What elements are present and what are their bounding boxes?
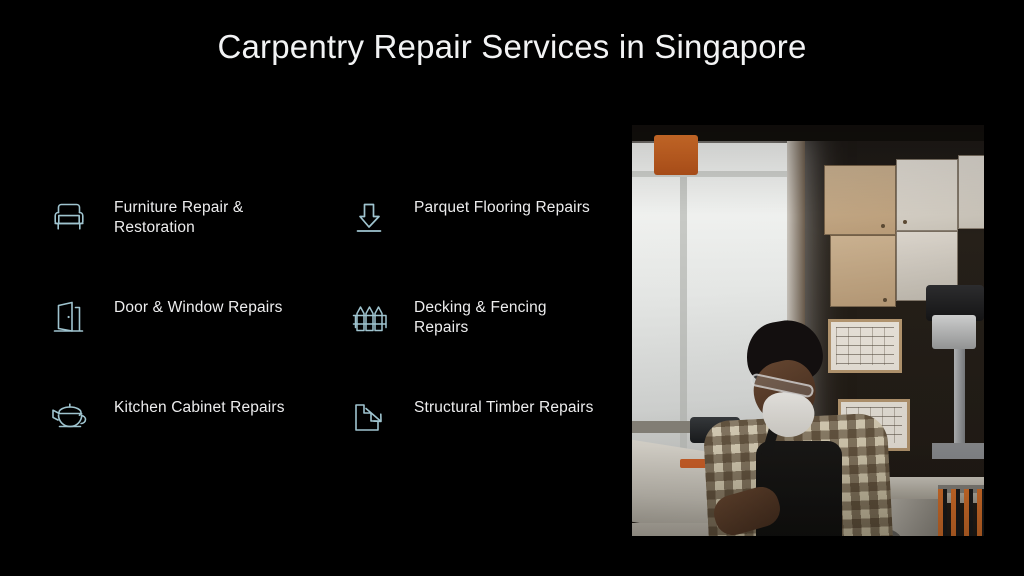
stairs-arrow-icon (346, 394, 392, 442)
service-item-structural-timber[interactable]: Structural Timber Repairs (346, 392, 616, 492)
service-label: Decking & Fencing Repairs (414, 292, 604, 338)
service-label: Door & Window Repairs (114, 292, 283, 318)
armchair-icon (46, 194, 92, 242)
slide-root: Carpentry Repair Services in Singapore F… (0, 0, 1024, 576)
download-arrow-icon (346, 194, 392, 242)
service-item-furniture-repair[interactable]: Furniture Repair & Restoration (46, 192, 346, 292)
photo-vignette (632, 125, 984, 536)
service-item-decking-fencing[interactable]: Decking & Fencing Repairs (346, 292, 616, 392)
service-label: Kitchen Cabinet Repairs (114, 392, 285, 418)
services-grid: Furniture Repair & Restoration Parquet F… (46, 192, 616, 492)
service-item-kitchen-cabinet[interactable]: Kitchen Cabinet Repairs (46, 392, 346, 492)
open-door-icon (46, 294, 92, 342)
photo-inner (632, 125, 984, 536)
picket-fence-icon (346, 294, 392, 342)
teapot-icon (46, 394, 92, 442)
page-title: Carpentry Repair Services in Singapore (0, 28, 1024, 66)
service-item-parquet-flooring[interactable]: Parquet Flooring Repairs (346, 192, 616, 292)
service-label: Parquet Flooring Repairs (414, 192, 590, 218)
service-label: Furniture Repair & Restoration (114, 192, 304, 238)
service-item-door-window[interactable]: Door & Window Repairs (46, 292, 346, 392)
carpenter-workshop-photo (632, 125, 984, 536)
service-label: Structural Timber Repairs (414, 392, 593, 418)
